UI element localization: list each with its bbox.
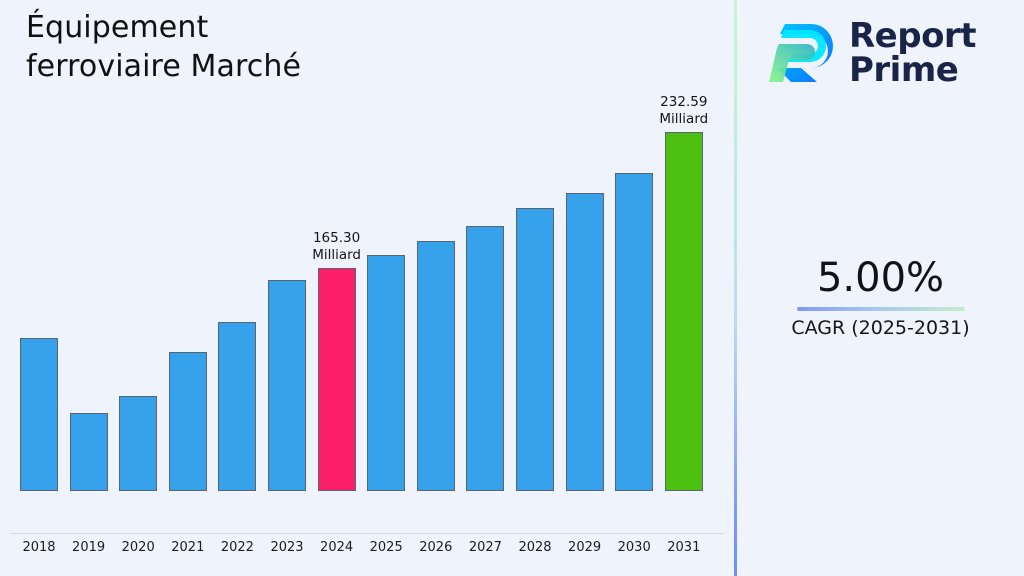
bar-rect-2026[interactable] [417, 241, 455, 491]
report-prime-logo-icon [767, 20, 839, 86]
bar-rect-2031[interactable] [665, 132, 703, 491]
report-slide: Équipement ferroviaire Marché 165.30 Mil… [0, 0, 1024, 576]
bar-rect-2021[interactable] [169, 352, 207, 491]
x-tick-2031: 2031 [654, 540, 714, 555]
bar-rect-2023[interactable] [268, 280, 306, 491]
info-panel: Report Prime 5.00% CAGR (2025-2031) [737, 0, 1024, 576]
bar-value-label-2031: 232.59 Milliard [629, 94, 739, 128]
bar-chart-plot: 165.30 Milliard232.59 Milliard [0, 0, 735, 534]
cagr-block: 5.00% CAGR (2025-2031) [737, 255, 1024, 340]
chart-panel: Équipement ferroviaire Marché 165.30 Mil… [0, 0, 735, 576]
cagr-value: 5.00% [737, 255, 1024, 301]
brand-name: Report Prime [849, 19, 976, 87]
bar-rect-2020[interactable] [119, 396, 157, 491]
brand-logo: Report Prime [767, 12, 1007, 94]
cagr-divider [797, 307, 965, 311]
bar-rect-2028[interactable] [516, 208, 554, 491]
bar-rect-2024[interactable] [318, 268, 356, 491]
x-axis-line [10, 533, 725, 534]
cagr-caption: CAGR (2025-2031) [737, 316, 1024, 340]
bar-rect-2025[interactable] [367, 255, 405, 491]
bar-rect-2022[interactable] [218, 322, 256, 491]
bar-rect-2018[interactable] [20, 338, 58, 491]
bar-rect-2030[interactable] [615, 173, 653, 491]
bar-rect-2027[interactable] [466, 226, 504, 491]
bar-rect-2029[interactable] [566, 193, 604, 491]
bar-rect-2019[interactable] [70, 413, 108, 491]
